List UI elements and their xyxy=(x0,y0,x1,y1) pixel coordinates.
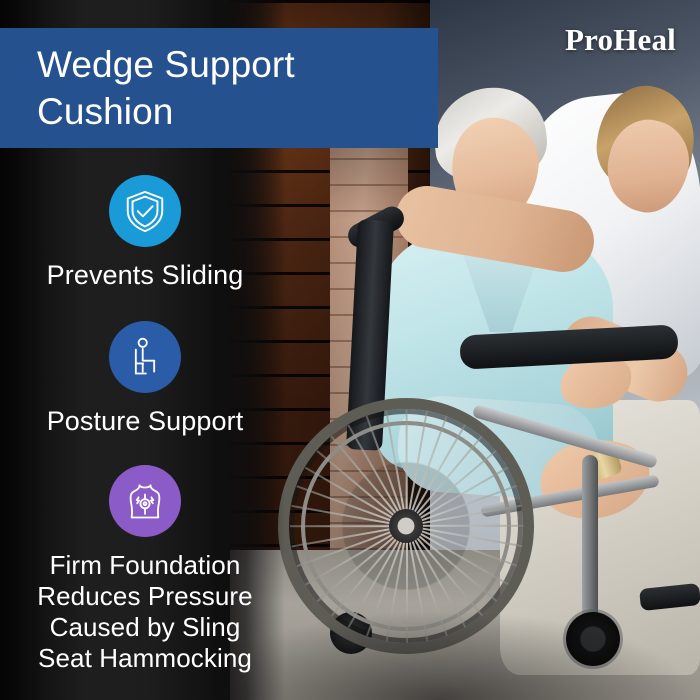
feature-label-prevents-sliding: Prevents Sliding xyxy=(47,260,244,291)
wheelchair-support-post xyxy=(582,455,598,630)
wheel-spoke xyxy=(407,525,524,527)
page-title-line-2: Cushion xyxy=(37,88,438,135)
feature-list: Prevents Sliding Posture Support xyxy=(0,175,290,674)
title-banner: Wedge Support Cushion xyxy=(0,28,438,148)
product-marketing-image: Wedge Support Cushion ProHeal Prevents S… xyxy=(0,0,700,700)
feature-label-line-2: Reduces Pressure xyxy=(37,581,252,612)
floor-shadow xyxy=(230,610,700,700)
feature-label-line-4: Seat Hammocking xyxy=(37,643,252,674)
page-title-line-1: Wedge Support xyxy=(37,41,438,88)
feature-label-line-3: Caused by Sling xyxy=(37,612,252,643)
feature-label-posture-support: Posture Support xyxy=(47,406,244,437)
wheel-hub xyxy=(389,509,423,543)
feature-firm-foundation: Firm Foundation Reduces Pressure Caused … xyxy=(0,465,290,675)
seated-person-icon xyxy=(109,321,181,393)
feature-posture-support: Posture Support xyxy=(0,321,290,437)
brand-logo: ProHeal xyxy=(565,22,676,58)
feature-prevents-sliding: Prevents Sliding xyxy=(0,175,290,291)
shield-check-icon xyxy=(109,175,181,247)
feature-label-line-1: Firm Foundation xyxy=(37,550,252,581)
back-pressure-icon xyxy=(109,465,181,537)
feature-label-firm-foundation: Firm Foundation Reduces Pressure Caused … xyxy=(37,550,252,675)
